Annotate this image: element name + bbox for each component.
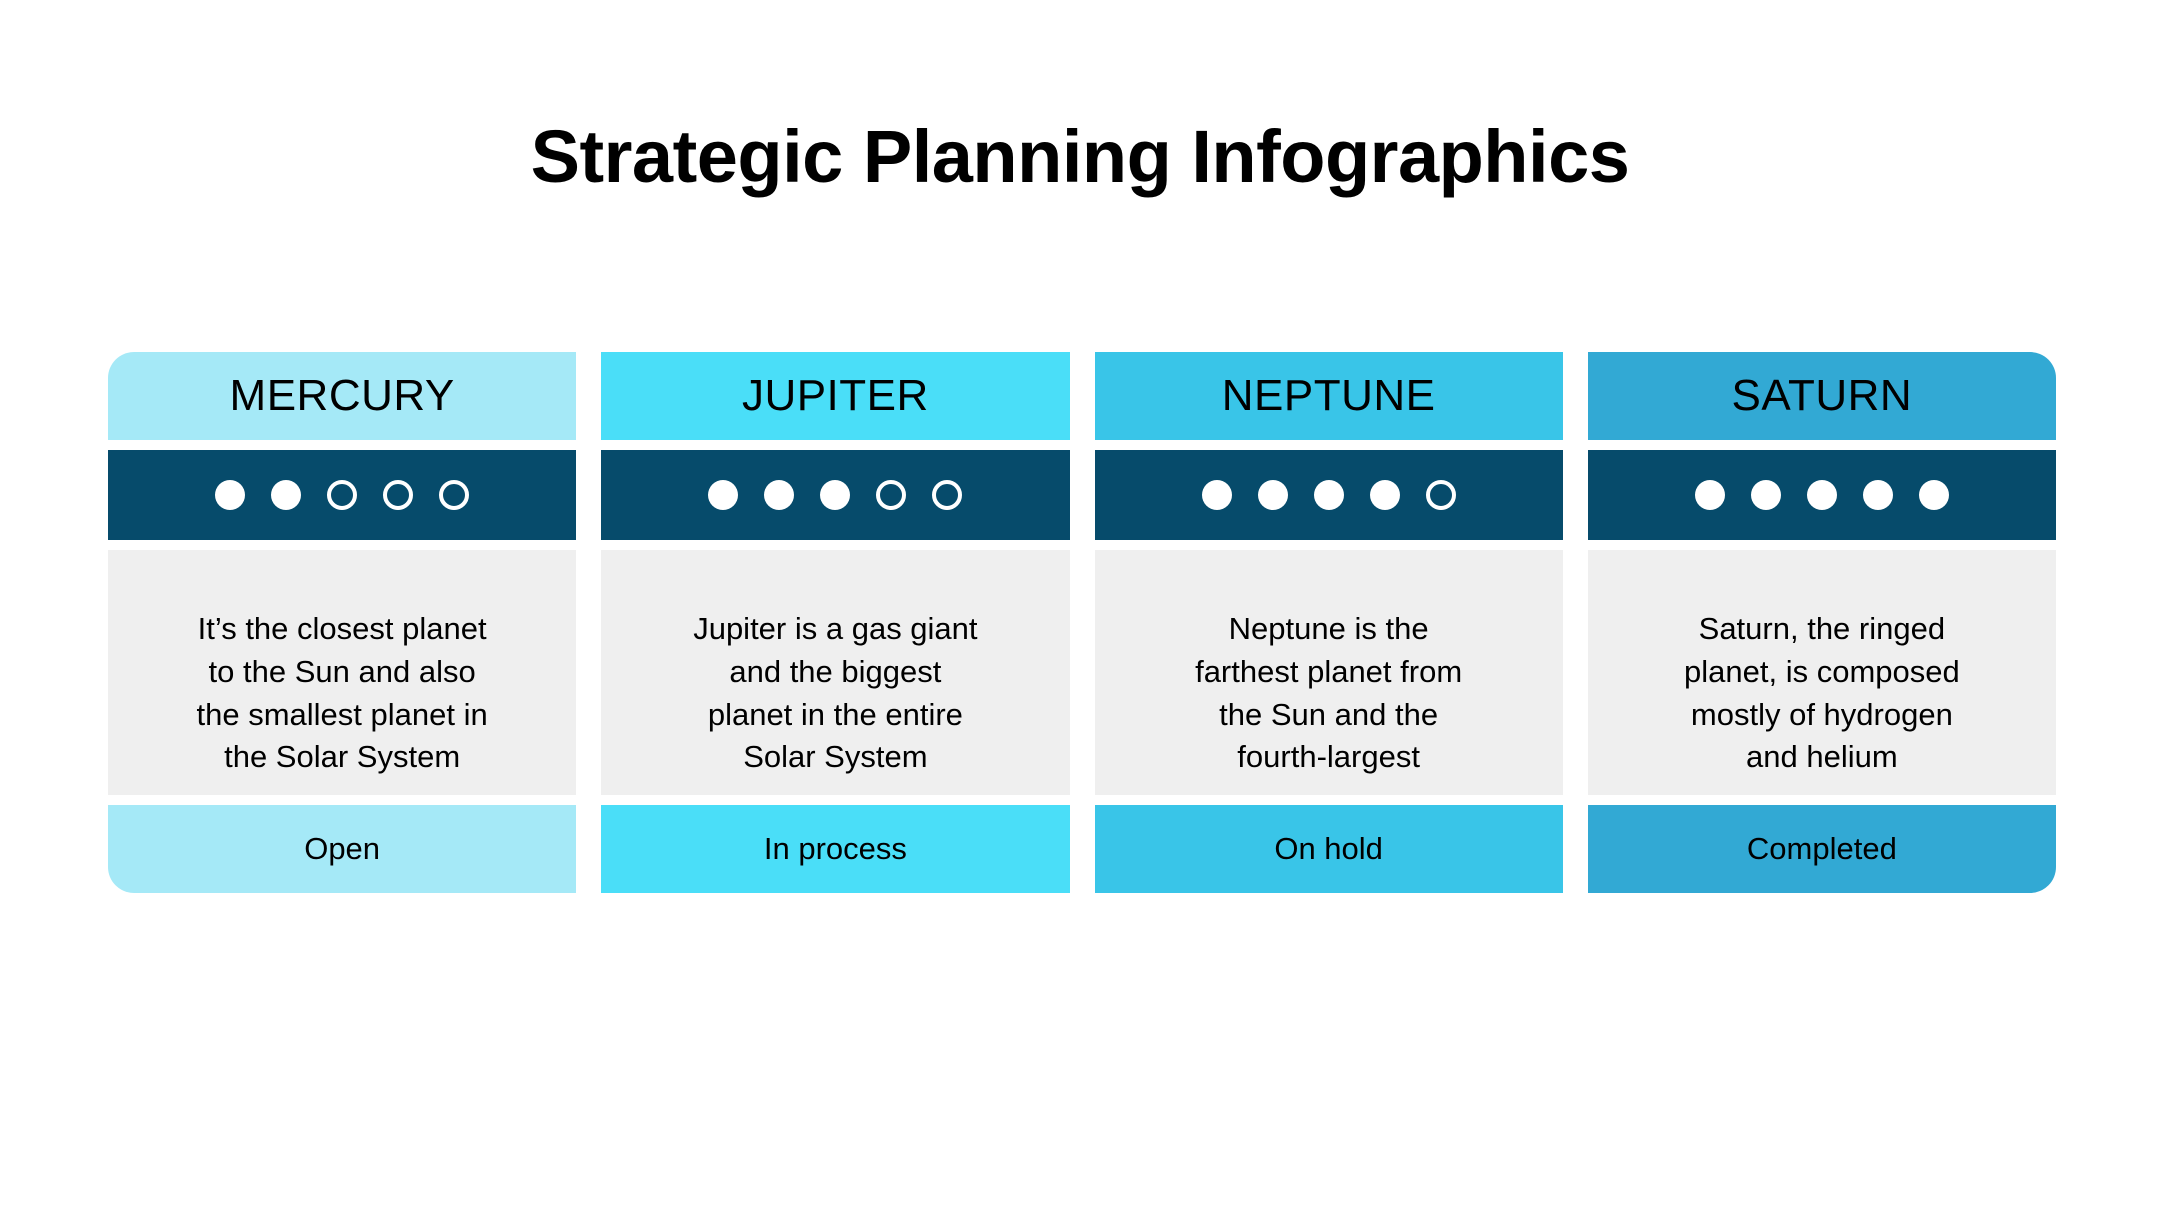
column-header[interactable]: MERCURY bbox=[108, 352, 576, 440]
description-panel: Neptune is the farthest planet from the … bbox=[1095, 550, 1563, 795]
rating-dot-filled[interactable] bbox=[764, 480, 794, 510]
status-badge[interactable]: In process bbox=[601, 805, 1069, 893]
rating-dot-filled[interactable] bbox=[1202, 480, 1232, 510]
column-header[interactable]: SATURN bbox=[1588, 352, 2056, 440]
description-panel: It’s the closest planet to the Sun and a… bbox=[108, 550, 576, 795]
status-badge[interactable]: Open bbox=[108, 805, 576, 893]
rating-dot-filled[interactable] bbox=[1919, 480, 1949, 510]
rating-dots bbox=[108, 450, 576, 540]
rating-dot-filled[interactable] bbox=[820, 480, 850, 510]
status-badge[interactable]: Completed bbox=[1588, 805, 2056, 893]
rating-dot-empty[interactable] bbox=[327, 480, 357, 510]
rating-dot-filled[interactable] bbox=[215, 480, 245, 510]
column-jupiter: JUPITERJupiter is a gas giant and the bi… bbox=[601, 352, 1069, 893]
page-title: Strategic Planning Infographics bbox=[0, 118, 2160, 196]
rating-dot-filled[interactable] bbox=[1695, 480, 1725, 510]
infographic-slide: Strategic Planning Infographics MERCURYI… bbox=[0, 0, 2160, 1215]
rating-dot-empty[interactable] bbox=[876, 480, 906, 510]
rating-dots bbox=[1095, 450, 1563, 540]
rating-dot-filled[interactable] bbox=[1314, 480, 1344, 510]
rating-dot-filled[interactable] bbox=[271, 480, 301, 510]
column-header[interactable]: NEPTUNE bbox=[1095, 352, 1563, 440]
column-saturn: SATURNSaturn, the ringed planet, is comp… bbox=[1588, 352, 2056, 893]
rating-dot-filled[interactable] bbox=[1863, 480, 1893, 510]
description-text: Neptune is the farthest planet from the … bbox=[1195, 608, 1462, 779]
description-text: It’s the closest planet to the Sun and a… bbox=[197, 608, 488, 779]
rating-dot-filled[interactable] bbox=[1807, 480, 1837, 510]
status-badge[interactable]: On hold bbox=[1095, 805, 1563, 893]
column-mercury: MERCURYIt’s the closest planet to the Su… bbox=[108, 352, 576, 893]
description-text: Jupiter is a gas giant and the biggest p… bbox=[693, 608, 977, 779]
rating-dot-filled[interactable] bbox=[708, 480, 738, 510]
description-panel: Saturn, the ringed planet, is composed m… bbox=[1588, 550, 2056, 795]
comparison-grid: MERCURYIt’s the closest planet to the Su… bbox=[108, 352, 2056, 893]
rating-dot-empty[interactable] bbox=[932, 480, 962, 510]
rating-dots bbox=[601, 450, 1069, 540]
rating-dot-filled[interactable] bbox=[1258, 480, 1288, 510]
description-panel: Jupiter is a gas giant and the biggest p… bbox=[601, 550, 1069, 795]
rating-dot-empty[interactable] bbox=[1426, 480, 1456, 510]
column-header[interactable]: JUPITER bbox=[601, 352, 1069, 440]
description-text: Saturn, the ringed planet, is composed m… bbox=[1684, 608, 1960, 779]
rating-dot-filled[interactable] bbox=[1751, 480, 1781, 510]
rating-dot-filled[interactable] bbox=[1370, 480, 1400, 510]
rating-dots bbox=[1588, 450, 2056, 540]
column-neptune: NEPTUNENeptune is the farthest planet fr… bbox=[1095, 352, 1563, 893]
rating-dot-empty[interactable] bbox=[439, 480, 469, 510]
rating-dot-empty[interactable] bbox=[383, 480, 413, 510]
